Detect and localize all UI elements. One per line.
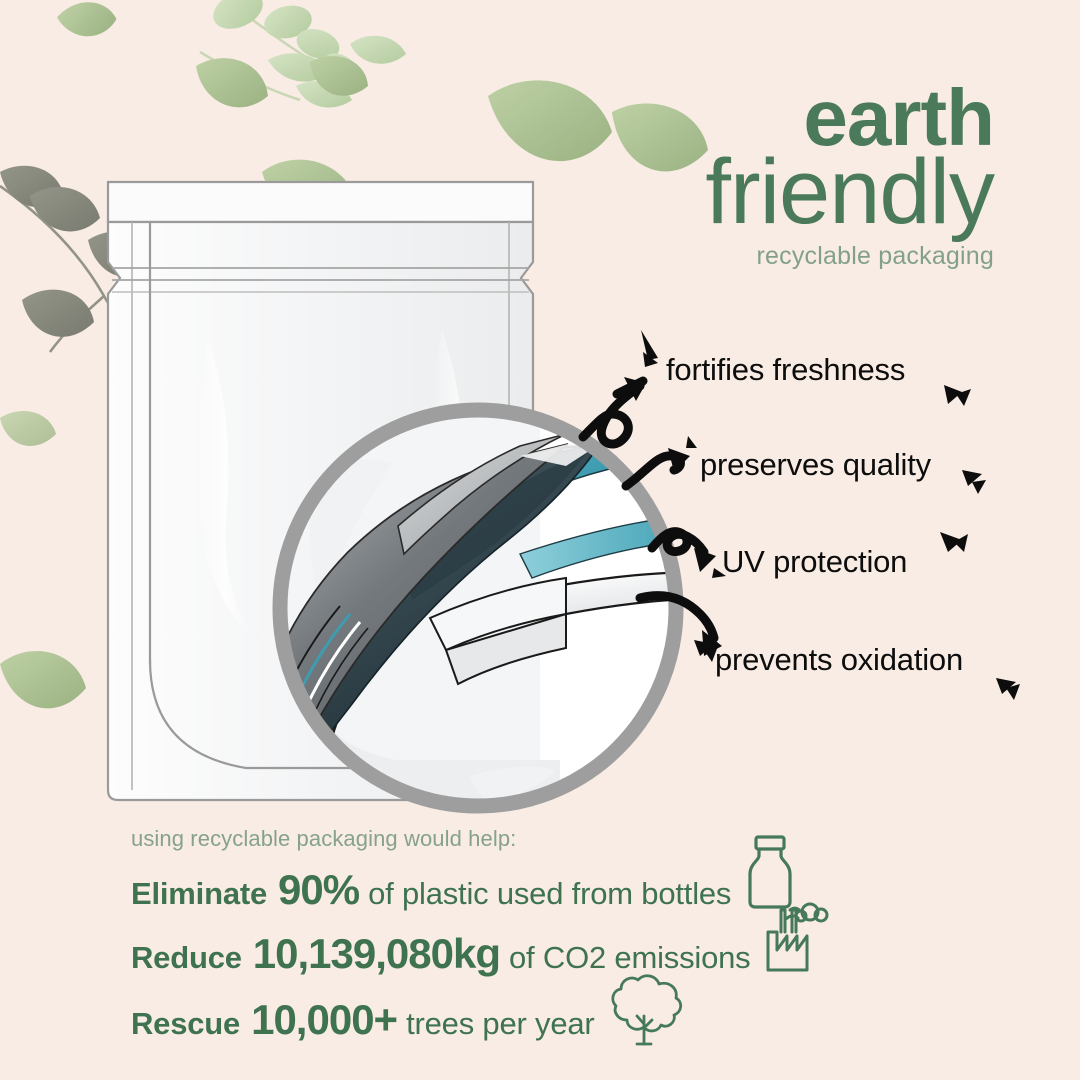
title-friendly: friendly	[705, 146, 994, 238]
bottle-icon	[742, 834, 798, 910]
headline-subtitle: recyclable packaging	[705, 244, 994, 269]
headline-block: earth friendly recyclable packaging	[705, 78, 994, 269]
stat-verb: Reduce	[131, 940, 242, 976]
stat-number: 10,139,080kg	[253, 930, 500, 978]
stat-row-rescue: Rescue 10,000+ trees per year	[131, 996, 595, 1044]
stat-tail: trees per year	[406, 1006, 594, 1042]
curly-arrow-loop-icon	[652, 532, 716, 572]
stat-number: 90%	[278, 866, 359, 914]
tree-icon	[604, 972, 688, 1048]
feature-label-prevents-oxidation: prevents oxidation	[715, 642, 963, 678]
curly-arrow-icon	[626, 448, 690, 486]
stat-tail: of CO2 emissions	[509, 940, 750, 976]
stat-number: 10,000+	[251, 996, 397, 1044]
stat-row-reduce: Reduce 10,139,080kg of CO2 emissions	[131, 930, 750, 978]
infographic-canvas: earth friendly recyclable packaging fort…	[0, 0, 1080, 1080]
stat-tail: of plastic used from bottles	[368, 876, 731, 912]
factory-icon	[764, 902, 830, 974]
feature-label-preserves-quality: preserves quality	[700, 447, 931, 483]
stat-row-eliminate: Eliminate 90% of plastic used from bottl…	[131, 866, 731, 914]
feature-label-uv-protection: UV protection	[722, 544, 907, 580]
stats-helper-line: using recyclable packaging would help:	[131, 826, 516, 852]
stat-verb: Rescue	[131, 1006, 240, 1042]
stat-verb: Eliminate	[131, 876, 267, 912]
curly-arrow-loop-icon	[583, 377, 646, 444]
feature-label-fortifies-freshness: fortifies freshness	[666, 352, 905, 388]
